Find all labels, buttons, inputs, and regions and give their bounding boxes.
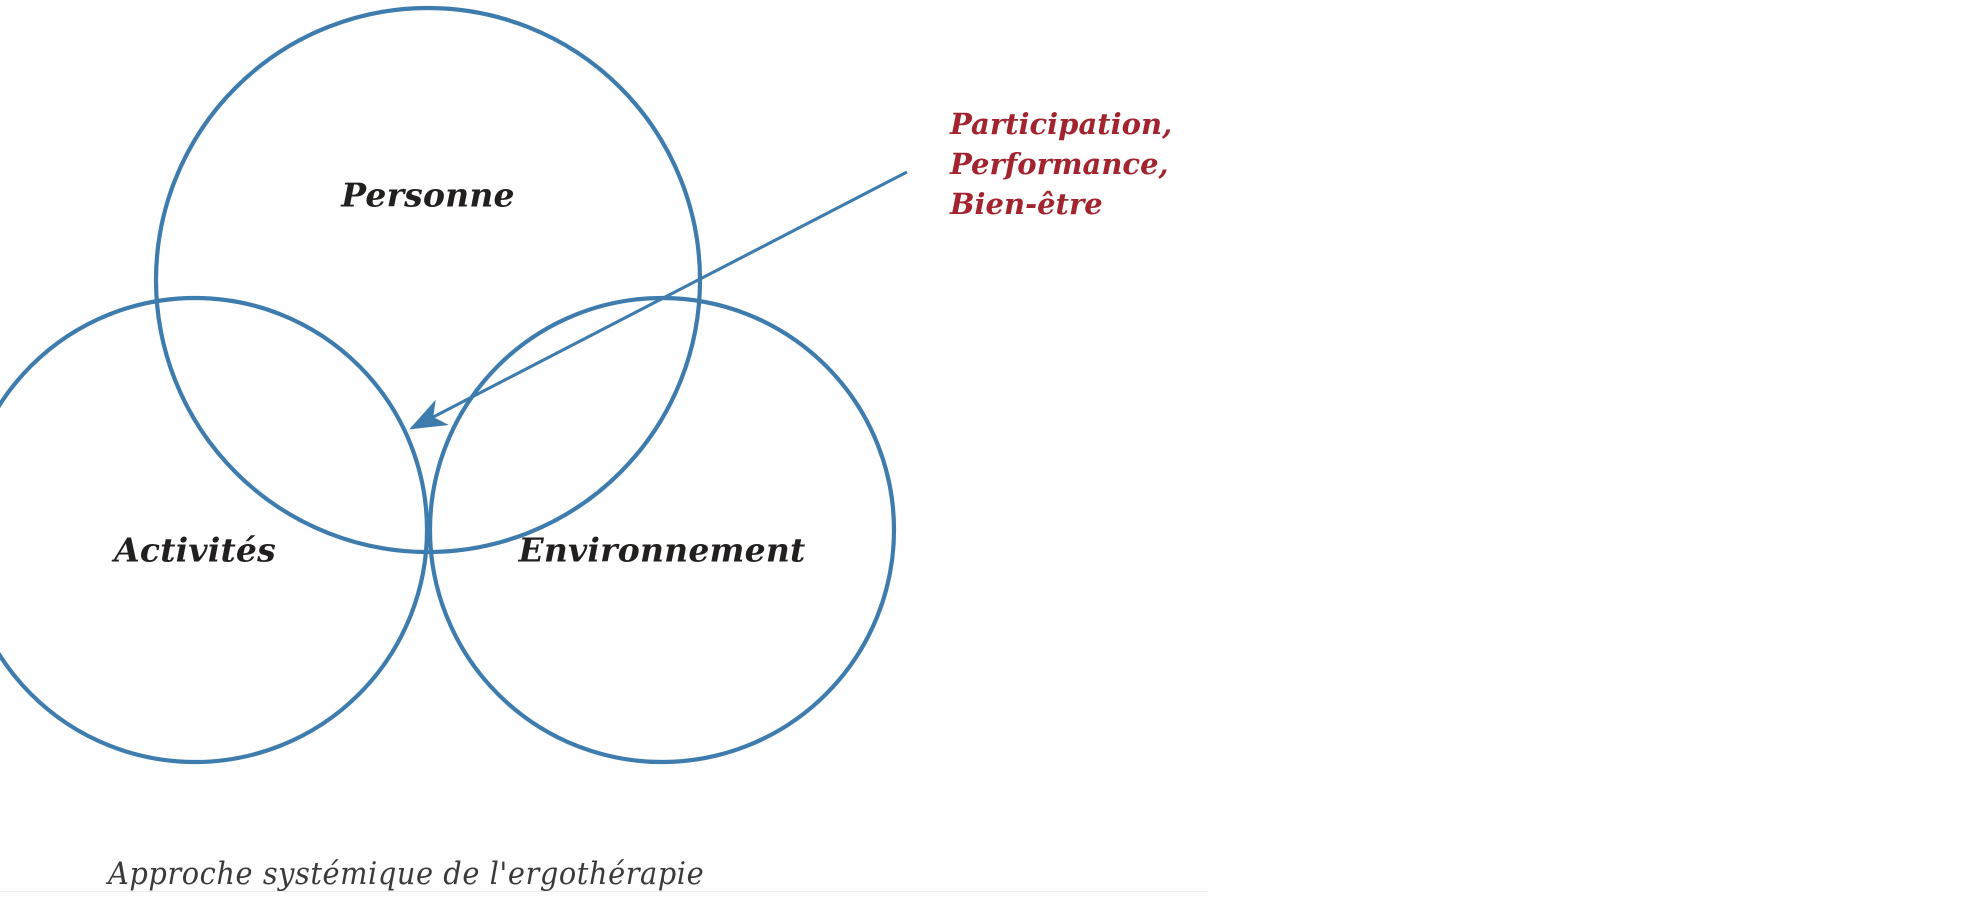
circle-personne [156, 8, 700, 552]
callout-line-bien-etre: Bien-être [950, 184, 1172, 224]
circle-label-activites: Activités [114, 531, 276, 570]
figure-canvas: Personne Activités Environnement Partici… [0, 0, 1984, 905]
outcome-callout: Participation, Performance, Bien-être [950, 104, 1172, 224]
callout-line-performance: Performance, [950, 144, 1172, 184]
callout-line-participation: Participation, [950, 104, 1172, 144]
figure-caption: Approche systémique de l'ergothérapie [108, 856, 704, 892]
circle-label-personne: Personne [341, 176, 514, 215]
circle-label-environnement: Environnement [519, 531, 806, 570]
venn-diagram-figure: Personne Activités Environnement Partici… [0, 0, 1208, 905]
